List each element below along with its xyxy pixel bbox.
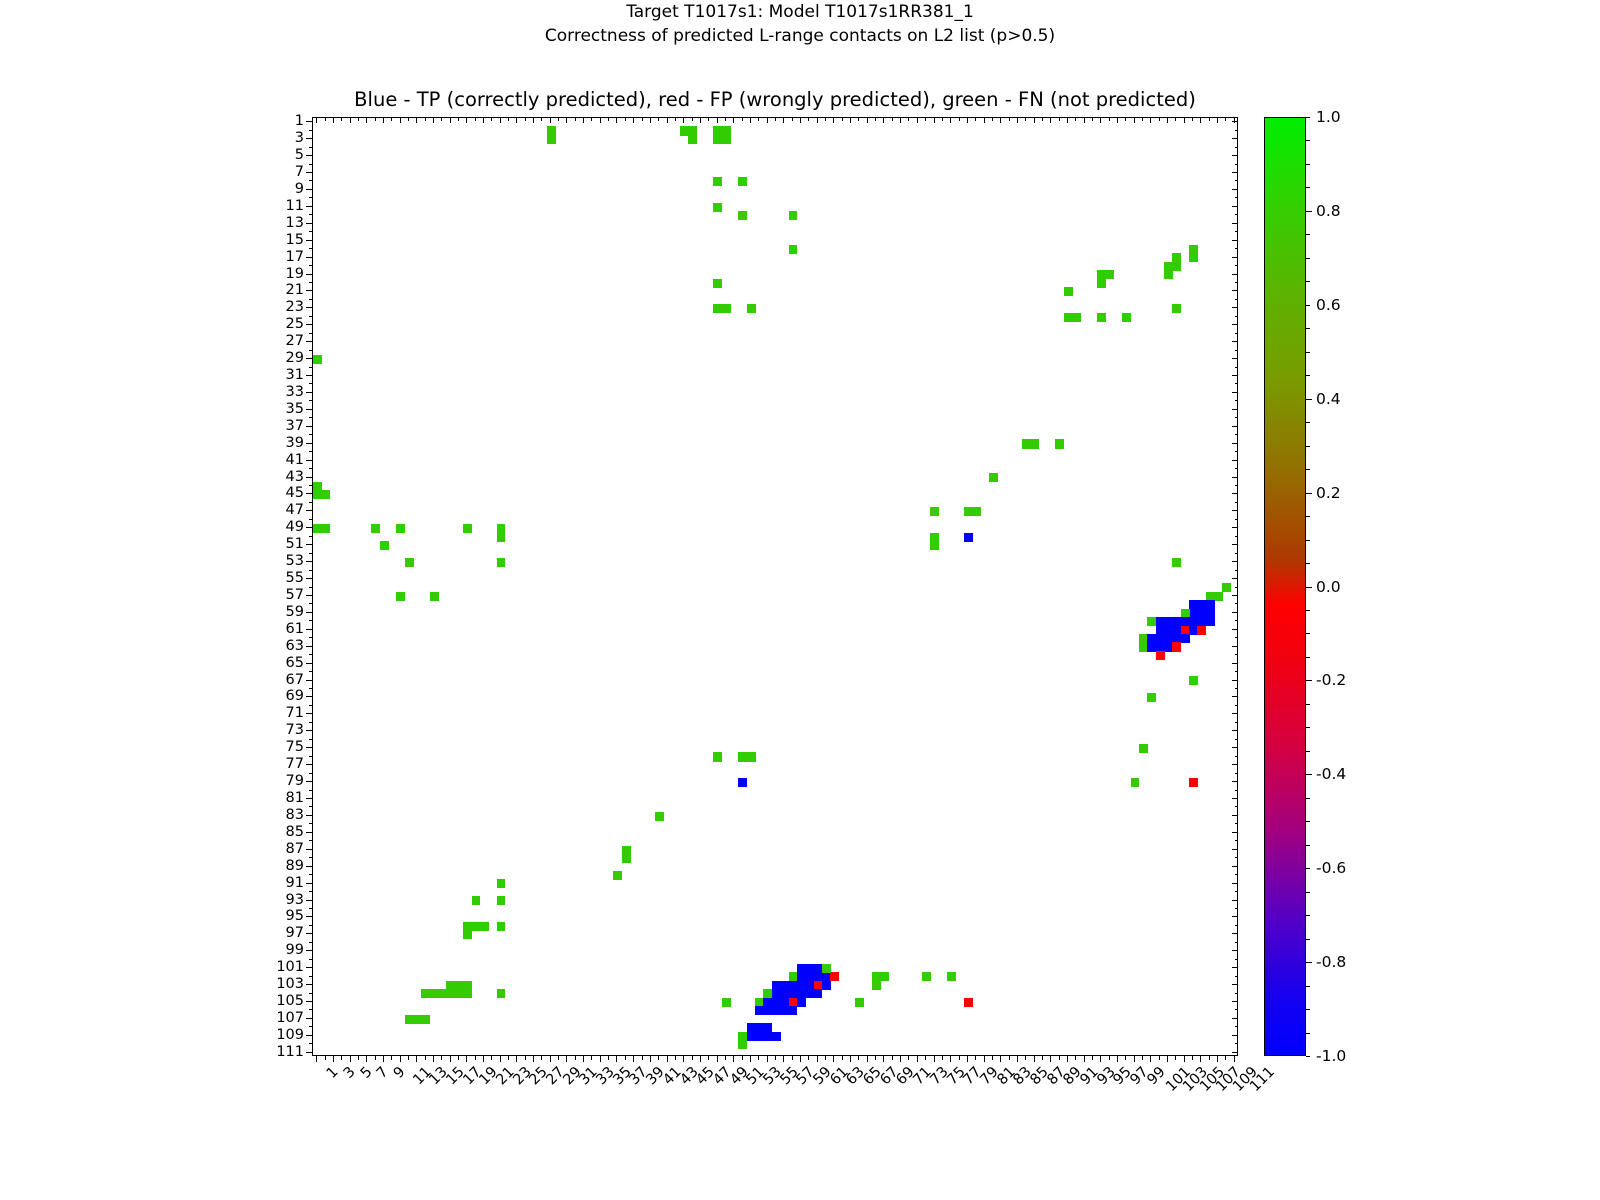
colorbar-tick xyxy=(1306,187,1310,188)
colorbar-tick-label: 0.0 xyxy=(1316,578,1341,596)
x-axis-tick xyxy=(1042,1056,1043,1060)
contact-cell xyxy=(989,473,998,482)
x-axis-tick xyxy=(483,1056,484,1062)
x-axis-tick xyxy=(800,1056,801,1062)
y-axis-tick-label: 35 xyxy=(286,401,304,417)
contact-cell xyxy=(922,972,931,981)
x-axis-tick xyxy=(808,1056,809,1060)
contact-cell xyxy=(1222,583,1231,592)
y-axis-tick-label: 107 xyxy=(276,1010,304,1026)
x-axis-tick xyxy=(892,1056,893,1060)
colorbar-tick xyxy=(1306,939,1310,940)
x-axis-tick xyxy=(992,1056,993,1060)
y-axis-tick-label: 39 xyxy=(286,435,304,451)
x-axis-tick xyxy=(466,1056,467,1062)
colorbar-tick xyxy=(1306,563,1310,564)
x-axis-tick xyxy=(333,1056,334,1062)
x-axis-tick xyxy=(516,1056,517,1062)
y-axis-tick-label: 53 xyxy=(286,553,304,569)
contact-cell xyxy=(930,507,939,516)
x-axis-tick xyxy=(608,1056,609,1060)
contact-cell xyxy=(972,507,981,516)
x-axis-tick xyxy=(1092,1056,1093,1060)
x-axis-tick xyxy=(1200,1056,1201,1062)
colorbar-tick xyxy=(1306,892,1310,893)
x-axis-tick xyxy=(1109,1056,1110,1060)
contact-cell xyxy=(463,989,472,998)
x-axis-tick xyxy=(750,1056,751,1062)
x-axis-tick xyxy=(900,1056,901,1062)
x-axis-tick xyxy=(683,1056,684,1062)
x-axis-tick-label: 7 xyxy=(374,1064,392,1082)
x-axis-tick xyxy=(842,1056,843,1060)
x-axis-tick xyxy=(1100,1056,1101,1062)
x-axis-tick xyxy=(708,1056,709,1060)
x-axis-tick xyxy=(533,1056,534,1062)
x-axis-tick xyxy=(1017,1056,1018,1062)
contact-cell xyxy=(1206,617,1215,626)
y-axis-tick-label: 63 xyxy=(286,638,304,654)
suptitle-line-1: Target T1017s1: Model T1017s1RR381_1 xyxy=(0,0,1600,24)
x-axis-tick xyxy=(575,1056,576,1060)
colorbar-tick xyxy=(1306,469,1310,470)
contact-cell xyxy=(1164,270,1173,279)
x-axis-tick xyxy=(833,1056,834,1062)
x-axis-tick xyxy=(1159,1056,1160,1060)
x-axis-tick xyxy=(642,1056,643,1060)
colorbar-ticks: 1.00.80.60.40.20.0-0.2-0.4-0.6-0.8-1.0 xyxy=(1306,117,1376,1056)
contact-cell xyxy=(722,998,731,1007)
contact-cell xyxy=(480,922,489,931)
x-axis-tick xyxy=(566,1056,567,1062)
x-axis-tick xyxy=(1175,1056,1176,1060)
x-axis-tick-label: 1 xyxy=(324,1064,342,1082)
colorbar-tick xyxy=(1306,657,1310,658)
x-axis-tick xyxy=(416,1056,417,1062)
colorbar-tick xyxy=(1306,540,1310,541)
x-axis-tick xyxy=(1050,1056,1051,1062)
contact-cell xyxy=(738,177,747,186)
contact-cell xyxy=(396,524,405,533)
x-axis-tick xyxy=(391,1056,392,1060)
y-axis-tick-label: 93 xyxy=(286,892,304,908)
x-axis-tick xyxy=(850,1056,851,1062)
figure-root: Target T1017s1: Model T1017s1RR381_1 Cor… xyxy=(0,0,1600,1200)
contact-cell xyxy=(772,1032,781,1041)
x-axis-tick xyxy=(1142,1056,1143,1060)
x-axis-tick xyxy=(1167,1056,1168,1062)
colorbar-tick xyxy=(1306,234,1310,235)
contact-cell xyxy=(497,896,506,905)
contact-cell xyxy=(747,304,756,313)
contact-cell xyxy=(1181,634,1190,643)
x-axis-tick xyxy=(950,1056,951,1062)
y-axis-tick-label: 47 xyxy=(286,502,304,518)
x-axis-tick xyxy=(733,1056,734,1062)
y-axis-tick-label: 71 xyxy=(286,705,304,721)
y-axis-tick-label: 67 xyxy=(286,672,304,688)
x-axis-tick xyxy=(883,1056,884,1062)
contact-cell xyxy=(497,989,506,998)
colorbar-tick xyxy=(1306,868,1310,869)
contact-cell xyxy=(613,871,622,880)
colorbar-tick xyxy=(1306,915,1310,916)
y-axis-tick-label: 97 xyxy=(286,925,304,941)
contact-cell xyxy=(830,972,839,981)
contact-cell xyxy=(1106,270,1115,279)
x-axis-tick xyxy=(383,1056,384,1062)
colorbar-tick xyxy=(1306,610,1310,611)
x-axis-tick xyxy=(525,1056,526,1060)
contact-cell xyxy=(463,981,472,990)
y-axis-tick-label: 23 xyxy=(286,299,304,315)
x-axis-tick xyxy=(725,1056,726,1060)
contact-cell xyxy=(1072,313,1081,322)
x-axis-tick xyxy=(1117,1056,1118,1062)
contact-cell xyxy=(547,135,556,144)
contact-cell xyxy=(1156,651,1165,660)
contact-cell xyxy=(789,211,798,220)
contact-cell xyxy=(1214,592,1223,601)
x-axis-tick xyxy=(908,1056,909,1060)
x-axis-tick xyxy=(758,1056,759,1060)
x-axis-tick xyxy=(541,1056,542,1060)
colorbar-tick xyxy=(1306,845,1310,846)
contact-cell xyxy=(497,922,506,931)
y-axis-tick-label: 41 xyxy=(286,452,304,468)
x-axis-tick xyxy=(400,1056,401,1062)
contact-cell xyxy=(430,592,439,601)
x-axis-tick xyxy=(550,1056,551,1062)
y-axis-tick-label: 59 xyxy=(286,604,304,620)
y-axis-tick-label: 13 xyxy=(286,215,304,231)
x-axis-tick xyxy=(366,1056,367,1062)
x-axis-tick xyxy=(491,1056,492,1060)
figure-suptitle: Target T1017s1: Model T1017s1RR381_1 Cor… xyxy=(0,0,1600,48)
y-axis-tick-label: 99 xyxy=(286,942,304,958)
x-axis-tick-label: 9 xyxy=(391,1064,409,1082)
colorbar-tick xyxy=(1306,1033,1310,1034)
x-axis-tick xyxy=(967,1056,968,1062)
x-axis-tick xyxy=(934,1056,935,1062)
colorbar-tick-label: 0.2 xyxy=(1316,484,1341,502)
contact-cell xyxy=(321,490,330,499)
x-axis-tick xyxy=(959,1056,960,1060)
contact-cell xyxy=(472,896,481,905)
contact-cell xyxy=(747,752,756,761)
x-axis-tick xyxy=(450,1056,451,1062)
colorbar-tick xyxy=(1306,352,1310,353)
colorbar-tick xyxy=(1306,727,1310,728)
x-axis-tick xyxy=(1067,1056,1068,1062)
x-axis-tick xyxy=(1000,1056,1001,1062)
colorbar-tick xyxy=(1306,399,1312,400)
colorbar-tick-label: -0.8 xyxy=(1316,953,1346,971)
colorbar-tick xyxy=(1306,798,1310,799)
y-axis-tick-label: 51 xyxy=(286,536,304,552)
y-axis-tick-label: 57 xyxy=(286,587,304,603)
x-axis-tick xyxy=(975,1056,976,1060)
contact-cell xyxy=(713,177,722,186)
colorbar-tick-label: 0.6 xyxy=(1316,296,1341,314)
y-axis-tick-label: 49 xyxy=(286,519,304,535)
colorbar-tick xyxy=(1306,821,1310,822)
x-axis-tick xyxy=(591,1056,592,1060)
x-axis-tick xyxy=(1225,1056,1226,1060)
contact-cell xyxy=(947,972,956,981)
y-axis-tick-label: 11 xyxy=(286,198,304,214)
contact-cell xyxy=(964,533,973,542)
contact-cell xyxy=(713,752,722,761)
contact-cell xyxy=(380,541,389,550)
y-axis-tick-label: 43 xyxy=(286,469,304,485)
x-axis-tick xyxy=(583,1056,584,1062)
colorbar-tick-label: -0.6 xyxy=(1316,859,1346,877)
y-axis-tick-label: 83 xyxy=(286,807,304,823)
contact-cell xyxy=(738,778,747,787)
contact-cell xyxy=(497,558,506,567)
colorbar-tick xyxy=(1306,774,1312,775)
x-axis-tick xyxy=(375,1056,376,1060)
x-axis-labels: 1357911131517192123252729313335373941434… xyxy=(312,1064,1238,1184)
contact-cell xyxy=(789,245,798,254)
x-axis-tick xyxy=(1150,1056,1151,1062)
x-axis-tick xyxy=(775,1056,776,1060)
x-axis-tick xyxy=(458,1056,459,1060)
colorbar-gradient xyxy=(1264,117,1306,1056)
x-axis-tick xyxy=(633,1056,634,1062)
x-axis-tick xyxy=(441,1056,442,1060)
x-axis-tick xyxy=(792,1056,793,1060)
contact-cell xyxy=(1197,626,1206,635)
x-axis-tick xyxy=(350,1056,351,1062)
y-axis-tick-label: 95 xyxy=(286,908,304,924)
x-axis-tick xyxy=(433,1056,434,1062)
y-axis-tick-label: 75 xyxy=(286,739,304,755)
colorbar-tick xyxy=(1306,281,1310,282)
contact-cell xyxy=(738,211,747,220)
x-axis-tick xyxy=(984,1056,985,1062)
contact-cell xyxy=(1172,304,1181,313)
contact-cell xyxy=(872,981,881,990)
contact-cell xyxy=(1064,287,1073,296)
contact-cell xyxy=(789,1006,798,1015)
contact-cell xyxy=(655,812,664,821)
x-axis-tick xyxy=(742,1056,743,1060)
x-axis-tick xyxy=(783,1056,784,1062)
x-axis-tick xyxy=(1184,1056,1185,1062)
contact-cell xyxy=(405,558,414,567)
contact-map-plot[interactable] xyxy=(312,117,1238,1056)
y-axis-tick-label: 103 xyxy=(276,976,304,992)
contact-cell xyxy=(713,279,722,288)
y-axis-tick-label: 37 xyxy=(286,418,304,434)
x-axis-tick xyxy=(316,1056,317,1062)
x-axis-tick xyxy=(917,1056,918,1062)
colorbar-tick xyxy=(1306,375,1310,376)
x-axis-tick xyxy=(558,1056,559,1060)
colorbar-tick-label: 0.8 xyxy=(1316,202,1341,220)
colorbar-tick xyxy=(1306,986,1310,987)
colorbar-tick xyxy=(1306,751,1310,752)
contact-cell xyxy=(880,972,889,981)
y-axis-tick-label: 55 xyxy=(286,570,304,586)
colorbar-tick xyxy=(1306,493,1312,494)
contact-cell xyxy=(1131,778,1140,787)
y-axis-tick-label: 101 xyxy=(276,959,304,975)
x-axis-tick xyxy=(925,1056,926,1060)
y-axis-tick-label: 9 xyxy=(295,181,304,197)
x-axis-tick xyxy=(1059,1056,1060,1060)
colorbar-tick xyxy=(1306,117,1310,118)
y-axis-labels: 1357911131517192123252729313335373941434… xyxy=(236,117,304,1056)
y-axis-tick-label: 5 xyxy=(295,147,304,163)
x-axis-tick xyxy=(508,1056,509,1060)
contact-cell xyxy=(463,524,472,533)
contact-cell xyxy=(463,930,472,939)
y-axis-tick-label: 29 xyxy=(286,350,304,366)
contact-cell xyxy=(1172,558,1181,567)
contact-cell xyxy=(1097,279,1106,288)
x-axis-tick xyxy=(500,1056,501,1062)
contact-cell xyxy=(1189,253,1198,262)
contact-cell xyxy=(371,524,380,533)
colorbar-tick xyxy=(1306,258,1310,259)
x-axis-tick xyxy=(341,1056,342,1060)
colorbar-tick xyxy=(1306,962,1312,963)
colorbar-tick xyxy=(1306,1056,1310,1057)
colorbar-tick xyxy=(1306,516,1310,517)
colorbar-tick xyxy=(1306,587,1312,588)
colorbar xyxy=(1264,117,1306,1056)
colorbar-tick-label: -0.4 xyxy=(1316,765,1346,783)
contact-cell xyxy=(1097,313,1106,322)
x-axis-tick xyxy=(475,1056,476,1060)
x-axis-tick xyxy=(1034,1056,1035,1062)
x-axis-tick xyxy=(408,1056,409,1060)
x-axis-tick xyxy=(767,1056,768,1062)
y-axis-tick-label: 1 xyxy=(295,113,304,129)
x-axis-tick xyxy=(1217,1056,1218,1062)
y-axis-tick-label: 105 xyxy=(276,993,304,1009)
y-axis-tick-label: 79 xyxy=(286,773,304,789)
colorbar-tick xyxy=(1306,422,1310,423)
y-axis-tick-label: 65 xyxy=(286,655,304,671)
contact-cell xyxy=(1172,262,1181,271)
axes-title: Blue - TP (correctly predicted), red - F… xyxy=(312,88,1238,111)
y-axis-tick-label: 15 xyxy=(286,232,304,248)
x-axis-tick xyxy=(1084,1056,1085,1062)
suptitle-line-2: Correctness of predicted L-range contact… xyxy=(0,24,1600,48)
contact-cell xyxy=(688,135,697,144)
y-axis-tick-label: 87 xyxy=(286,841,304,857)
x-axis-tick xyxy=(616,1056,617,1062)
x-axis-tick xyxy=(875,1056,876,1060)
contact-cell-layer xyxy=(313,118,1237,1055)
x-axis-tick xyxy=(825,1056,826,1060)
x-axis-tick xyxy=(600,1056,601,1062)
y-axis-tick-label: 91 xyxy=(286,875,304,891)
contact-cell xyxy=(713,203,722,212)
x-axis-tick xyxy=(658,1056,659,1060)
contact-cell xyxy=(321,524,330,533)
contact-cell xyxy=(797,998,806,1007)
x-axis-tick xyxy=(717,1056,718,1062)
colorbar-tick xyxy=(1306,704,1310,705)
y-axis-tick-label: 21 xyxy=(286,282,304,298)
x-axis-tick xyxy=(675,1056,676,1060)
y-axis-tick-label: 61 xyxy=(286,621,304,637)
colorbar-tick xyxy=(1306,633,1310,634)
contact-cell xyxy=(822,981,831,990)
x-axis-tick xyxy=(858,1056,859,1060)
colorbar-tick xyxy=(1306,680,1312,681)
contact-cell xyxy=(313,482,322,491)
y-axis-tick-label: 7 xyxy=(295,164,304,180)
contact-cell xyxy=(1172,642,1181,651)
x-axis-tick xyxy=(625,1056,626,1060)
colorbar-tick-label: -0.2 xyxy=(1316,671,1346,689)
x-axis-tick xyxy=(1209,1056,1210,1060)
x-axis-tick xyxy=(942,1056,943,1060)
y-axis-tick-label: 85 xyxy=(286,824,304,840)
contact-cell xyxy=(855,998,864,1007)
contact-cell xyxy=(822,964,831,973)
x-axis-tick xyxy=(425,1056,426,1060)
contact-cell xyxy=(1189,778,1198,787)
colorbar-tick xyxy=(1306,305,1310,306)
contact-cell xyxy=(1139,744,1148,753)
contact-cell xyxy=(1055,439,1064,448)
y-axis-tick-label: 3 xyxy=(295,130,304,146)
y-axis-tick-label: 89 xyxy=(286,858,304,874)
x-axis-tick xyxy=(650,1056,651,1062)
contact-cell xyxy=(930,541,939,550)
colorbar-tick xyxy=(1306,1009,1310,1010)
contact-cell xyxy=(421,1015,430,1024)
colorbar-tick-label: -1.0 xyxy=(1316,1047,1346,1065)
contact-cell xyxy=(622,854,631,863)
y-axis-tick-label: 81 xyxy=(286,790,304,806)
y-axis-tick-label: 17 xyxy=(286,249,304,265)
x-axis-tick-label: 5 xyxy=(357,1064,375,1082)
x-axis-tick xyxy=(867,1056,868,1062)
y-axis-tick-label: 31 xyxy=(286,367,304,383)
y-axis-tick-label: 77 xyxy=(286,756,304,772)
contact-cell xyxy=(1147,693,1156,702)
x-axis-tick xyxy=(817,1056,818,1062)
y-axis-tick-label: 25 xyxy=(286,316,304,332)
y-axis-tick-label: 109 xyxy=(276,1027,304,1043)
contact-cell xyxy=(497,879,506,888)
x-axis-tick xyxy=(700,1056,701,1062)
colorbar-tick xyxy=(1306,211,1312,212)
contact-cell xyxy=(722,135,731,144)
y-axis-tick-label: 27 xyxy=(286,333,304,349)
x-axis-tick xyxy=(1134,1056,1135,1062)
contact-cell xyxy=(964,998,973,1007)
colorbar-tick-label: 1.0 xyxy=(1316,108,1341,126)
x-axis-tick xyxy=(1234,1056,1235,1062)
contact-cell xyxy=(1189,676,1198,685)
contact-cell xyxy=(814,989,823,998)
x-axis-tick xyxy=(667,1056,668,1062)
contact-cell xyxy=(497,533,506,542)
colorbar-tick xyxy=(1306,328,1310,329)
colorbar-tick xyxy=(1306,446,1310,447)
x-axis-tick xyxy=(1025,1056,1026,1060)
contact-cell xyxy=(313,355,322,364)
